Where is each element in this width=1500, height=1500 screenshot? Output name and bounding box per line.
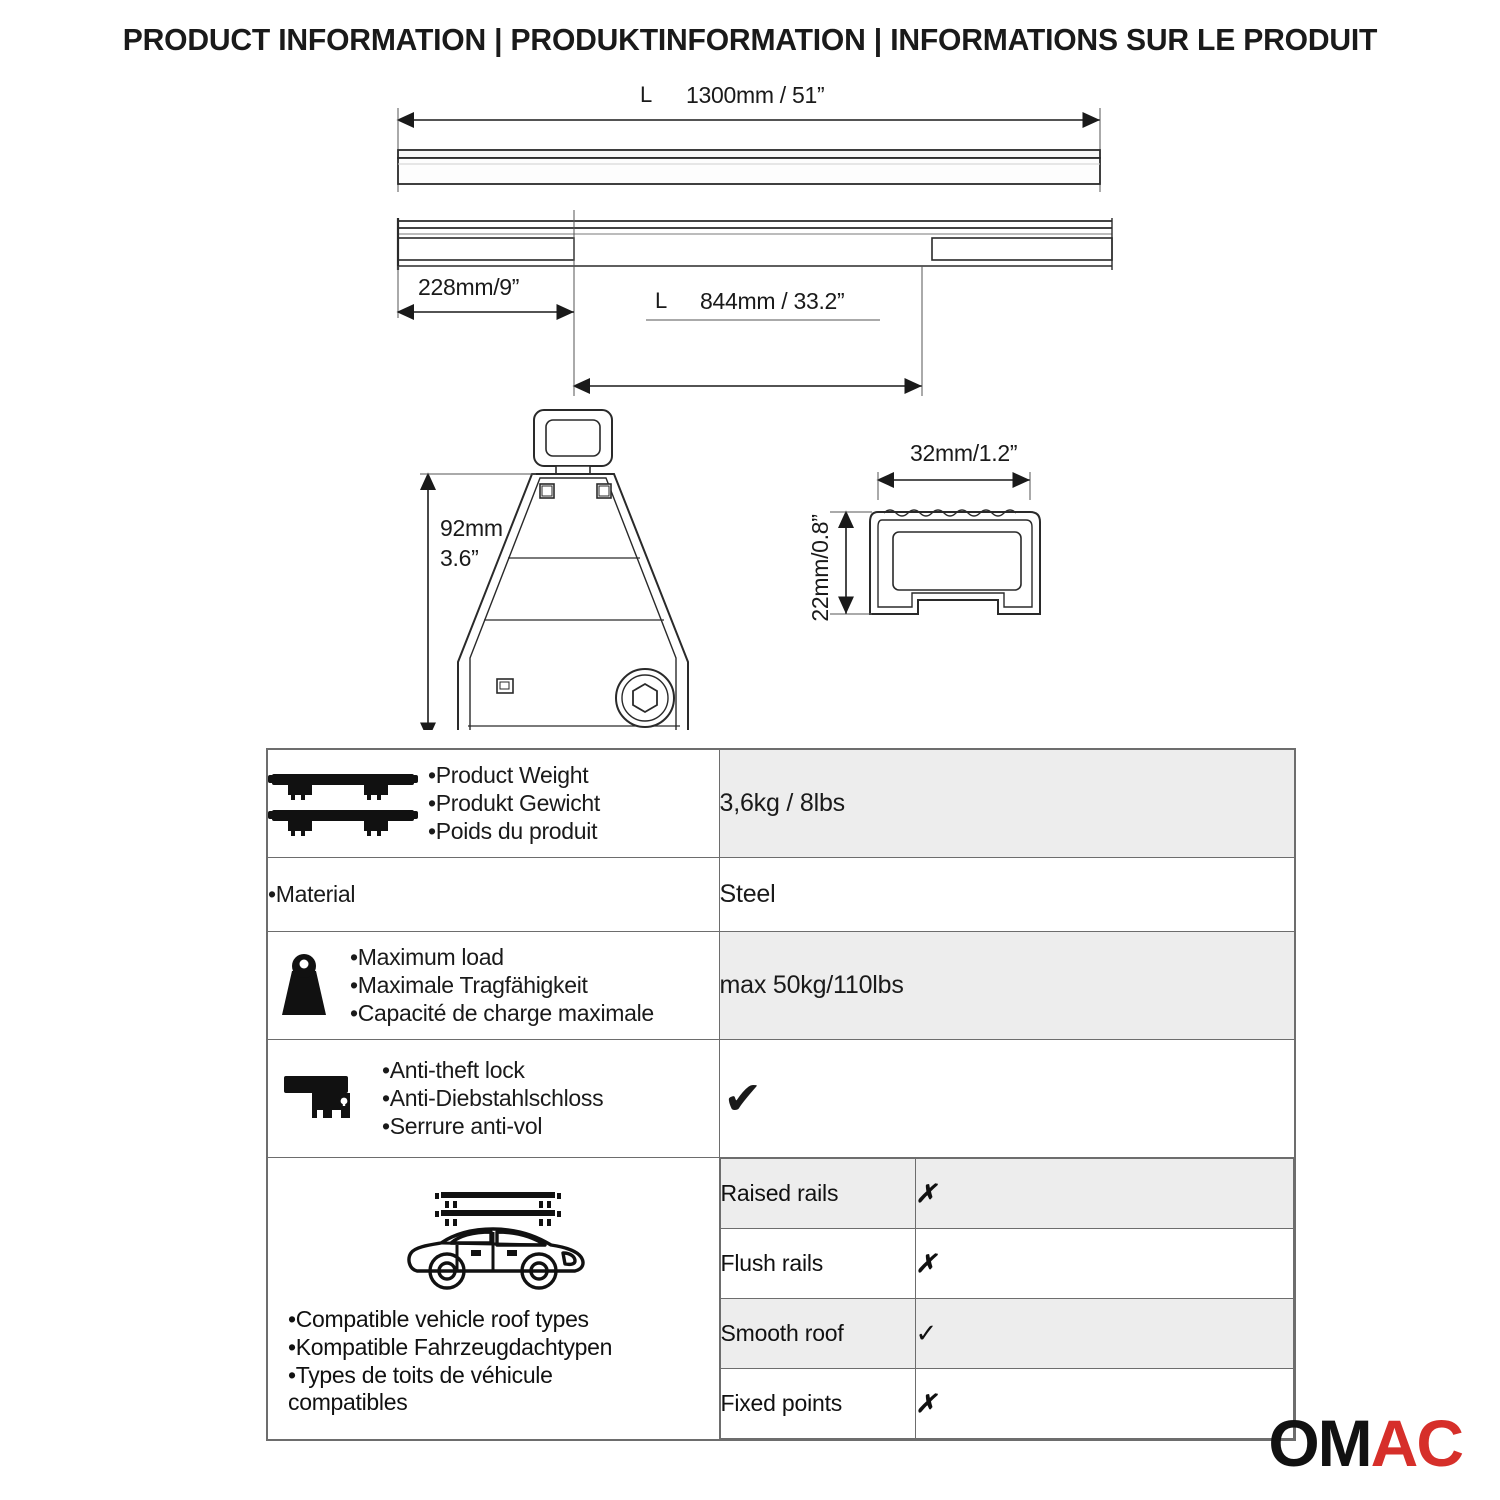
label-line-en: •Maximum load — [350, 943, 654, 971]
roof-type-mark: ✗ — [915, 1228, 1294, 1298]
label-line-en: •Anti-theft lock — [382, 1056, 603, 1084]
table-row: •Product Weight •Produkt Gewicht •Poids … — [267, 749, 1295, 857]
table-row: •Material Steel — [267, 857, 1295, 931]
roof-type-row: Raised rails ✗ — [720, 1158, 1294, 1228]
checkmark-icon: ✔ — [720, 1075, 762, 1121]
roof-type-table: Raised rails ✗ Flush rails ✗ — [720, 1158, 1295, 1439]
compatibility-label-cell: •Compatible vehicle roof types •Kompatib… — [267, 1157, 719, 1440]
cross-icon: ✗ — [916, 1390, 937, 1418]
roof-type-row: Fixed points ✗ — [720, 1368, 1294, 1438]
table-row: •Compatible vehicle roof types •Kompatib… — [267, 1157, 1295, 1440]
omac-logo: OMAC — [1268, 1410, 1462, 1476]
spread-value: 844mm / 33.2” — [700, 288, 844, 314]
spread-symbol: L — [655, 288, 667, 313]
top-length-symbol: L — [640, 82, 652, 107]
spec-value-material: Steel — [719, 857, 1295, 931]
label-line-fr: •Capacité de charge maximale — [350, 999, 654, 1027]
roof-type-mark: ✗ — [915, 1368, 1294, 1438]
spec-label-text: •Material — [268, 880, 355, 908]
technical-drawing: L 1300mm / 51” 228mm/9” L 844mm / 3 — [0, 80, 1500, 730]
page-title: PRODUCT INFORMATION | PRODUKTINFORMATION… — [23, 22, 1478, 58]
cross-icon: ✗ — [916, 1250, 937, 1278]
weight-icon — [268, 949, 340, 1021]
label-line-de: •Anti-Diebstahlschloss — [382, 1084, 603, 1112]
logo-text-dark: OM — [1268, 1406, 1370, 1480]
top-length-value: 1300mm / 51” — [686, 82, 824, 108]
spec-label-cell: •Anti-theft lock •Anti-Diebstahlschloss … — [267, 1039, 719, 1157]
roof-type-mark: ✗ — [915, 1158, 1294, 1228]
compatibility-label-text: •Compatible vehicle roof types •Kompatib… — [268, 1306, 612, 1416]
label-line-fr: •Poids du produit — [428, 817, 600, 845]
roof-type-name: Flush rails — [720, 1228, 915, 1298]
spec-label-cell: •Product Weight •Produkt Gewicht •Poids … — [267, 749, 719, 857]
compat-line-fr-cont: compatibles — [288, 1389, 612, 1417]
spec-label-cell: •Maximum load •Maximale Tragfähigkeit •C… — [267, 931, 719, 1039]
label-line-de: •Maximale Tragfähigkeit — [350, 971, 654, 999]
spec-value-anti-theft: ✔ — [719, 1039, 1295, 1157]
roof-type-row: Flush rails ✗ — [720, 1228, 1294, 1298]
compatibility-value-cell: Raised rails ✗ Flush rails ✗ — [719, 1157, 1295, 1440]
spec-value-weight: 3,6kg / 8lbs — [719, 749, 1295, 857]
label-line-de: •Produkt Gewicht — [428, 789, 600, 817]
spec-label-text: •Product Weight •Produkt Gewicht •Poids … — [428, 761, 600, 845]
car-with-rack-icon — [395, 1179, 591, 1302]
label-line-en: •Material — [268, 880, 355, 908]
roof-type-name: Smooth roof — [720, 1298, 915, 1368]
label-line-en: •Product Weight — [428, 761, 600, 789]
spec-label-text: •Maximum load •Maximale Tragfähigkeit •C… — [350, 943, 654, 1027]
spec-label-cell: •Material — [267, 857, 719, 931]
check-icon: ✓ — [916, 1318, 938, 1348]
crossbars-icon — [268, 766, 418, 840]
label-line-fr: •Serrure anti-vol — [382, 1112, 603, 1140]
compat-line-de: •Kompatible Fahrzeugdachtypen — [288, 1334, 612, 1362]
profile-width-label: 32mm/1.2” — [910, 440, 1017, 466]
lock-icon — [282, 1070, 360, 1126]
roof-type-name: Raised rails — [720, 1158, 915, 1228]
logo-text-red: AC — [1371, 1406, 1462, 1480]
table-row: •Maximum load •Maximale Tragfähigkeit •C… — [267, 931, 1295, 1039]
table-row: •Anti-theft lock •Anti-Diebstahlschloss … — [267, 1039, 1295, 1157]
specification-table: •Product Weight •Produkt Gewicht •Poids … — [266, 748, 1296, 1441]
profile-height-label: 22mm/0.8” — [807, 514, 833, 621]
roof-type-mark: ✓ — [915, 1298, 1294, 1368]
foot-height-line2: 3.6” — [440, 545, 478, 571]
roof-type-row: Smooth roof ✓ — [720, 1298, 1294, 1368]
compat-line-fr: •Types de toits de véhicule — [288, 1362, 612, 1390]
spec-value-max-load: max 50kg/110lbs — [719, 931, 1295, 1039]
compat-line-en: •Compatible vehicle roof types — [288, 1306, 612, 1334]
foot-offset-label: 228mm/9” — [418, 274, 519, 300]
foot-height-line1: 92mm — [440, 515, 503, 541]
cross-icon: ✗ — [916, 1180, 937, 1208]
spec-label-text: •Anti-theft lock •Anti-Diebstahlschloss … — [382, 1056, 603, 1140]
roof-type-name: Fixed points — [720, 1368, 915, 1438]
